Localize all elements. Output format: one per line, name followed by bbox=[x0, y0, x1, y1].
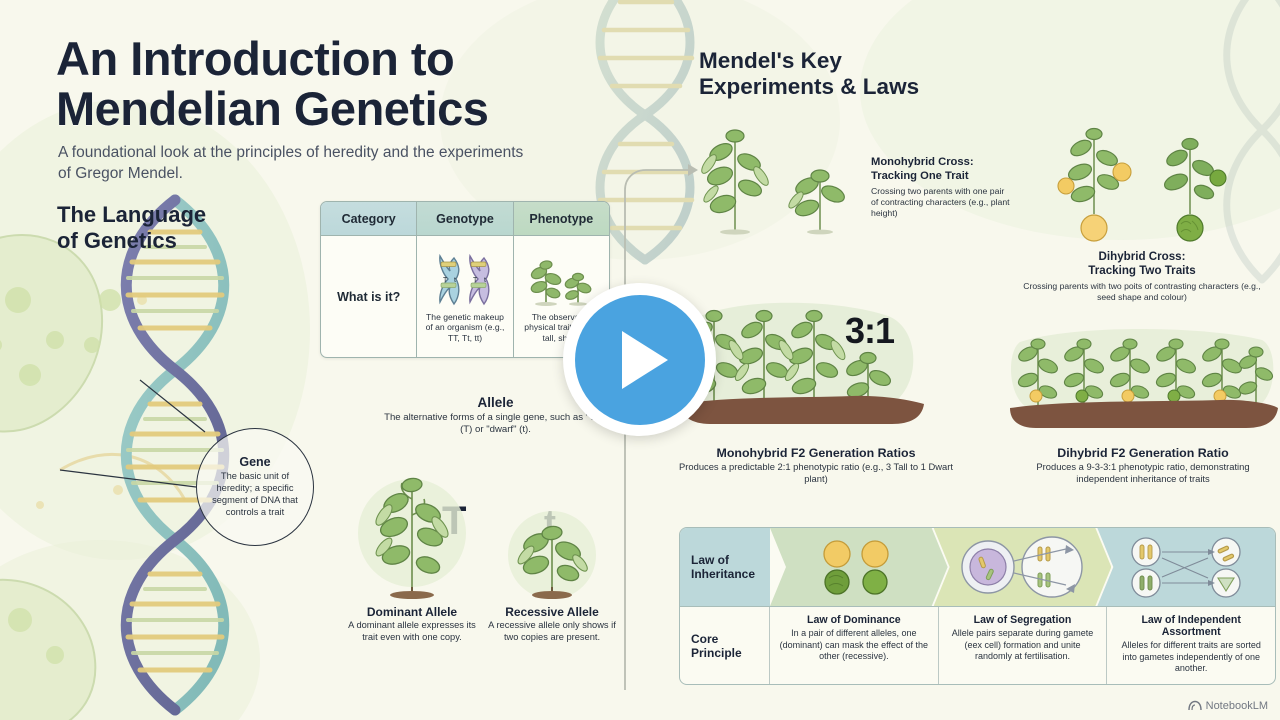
play-button[interactable] bbox=[563, 283, 716, 436]
table-header-genotype: Genotype bbox=[417, 202, 513, 235]
page-title-line1: An Introduction to bbox=[56, 34, 488, 84]
svg-text:t: t bbox=[484, 277, 486, 284]
notebooklm-logo-icon bbox=[1188, 700, 1202, 712]
yellow-seed-small bbox=[1058, 178, 1074, 194]
monohybrid-f2-description: Produces a predictable 2:1 phenotypic ra… bbox=[672, 461, 960, 485]
play-button-circle[interactable] bbox=[575, 295, 705, 425]
section-heading-line2: of Genetics bbox=[57, 228, 206, 254]
laws-illustration-row: Law of Inheritance bbox=[680, 528, 1275, 606]
law-segregation-text: Allele pairs separate during gamete (eex… bbox=[946, 628, 1100, 663]
recessive-allele-name: Recessive Allele bbox=[488, 605, 616, 619]
page-title-line2: Mendelian Genetics bbox=[56, 84, 488, 134]
monohybrid-f2-caption: Monohybrid F2 Generation Ratios Produces… bbox=[672, 446, 960, 485]
laws-row-label-line2: Inheritance bbox=[691, 567, 755, 581]
table-cell-genotype: T t T t The genetic makeup of an organis… bbox=[417, 236, 513, 358]
genotype-description: The genetic makeup of an organism (e.g.,… bbox=[422, 312, 507, 343]
dominant-allele-note: A dominant allele expresses its trait ev… bbox=[348, 620, 476, 644]
page-title: An Introduction to Mendelian Genetics bbox=[56, 34, 488, 134]
watermark: NotebookLM bbox=[1188, 700, 1268, 712]
allele-definition: Allele The alternative forms of a single… bbox=[383, 395, 608, 437]
svg-text:t: t bbox=[454, 277, 456, 284]
law-independent-assortment-name: Law of Independent Assortment bbox=[1114, 614, 1268, 638]
law-cell-independent-assortment: Law of Independent Assortment Alleles fo… bbox=[1107, 607, 1275, 685]
table-header-phenotype: Phenotype bbox=[514, 202, 609, 235]
laws-principle-label: Core Principle bbox=[680, 607, 770, 685]
table-header-row: Category Genotype Phenotype bbox=[321, 202, 609, 235]
recessive-allele-column: Recessive Allele A recessive allele only… bbox=[488, 455, 616, 644]
law-segregation-illustration bbox=[934, 528, 1112, 606]
monohybrid-f2-title: Monohybrid F2 Generation Ratios bbox=[672, 446, 960, 460]
recessive-allele-note: A recessive allele only shows if two cop… bbox=[488, 620, 616, 644]
right-heading-line2: Experiments & Laws bbox=[699, 74, 919, 100]
laws-principle-label-line1: Core bbox=[691, 632, 742, 646]
section-heading-line1: The Language bbox=[57, 202, 206, 228]
dihybrid-cross-caption: Dihybrid Cross: Tracking Two Traits Cros… bbox=[1014, 250, 1270, 302]
monohybrid-title-line2: Tracking One Trait bbox=[871, 170, 1013, 184]
watermark-label: NotebookLM bbox=[1206, 700, 1268, 712]
round-yellow-seed bbox=[1081, 215, 1107, 241]
page-subtitle: A foundational look at the principles of… bbox=[58, 143, 528, 184]
right-heading-line1: Mendel's Key bbox=[699, 48, 919, 74]
law-dominance-text: In a pair of different alleles, one (dom… bbox=[777, 628, 931, 663]
soil-bed bbox=[680, 396, 924, 424]
law-segregation-name: Law of Segregation bbox=[946, 614, 1100, 626]
law-dominance-name: Law of Dominance bbox=[777, 614, 931, 626]
gene-definition-circle: Gene The basic unit of heredity; a speci… bbox=[196, 428, 314, 546]
laws-principle-label-line2: Principle bbox=[691, 646, 742, 660]
gene-title: Gene bbox=[239, 455, 270, 469]
pea-plants-icon bbox=[526, 251, 596, 309]
monohybrid-parent-plants-illustration bbox=[683, 118, 868, 243]
allele-description: The alternative forms of a single gene, … bbox=[383, 412, 608, 437]
dihybrid-title-line1: Dihybrid Cross: bbox=[1014, 250, 1270, 264]
dominant-allele-column: Dominant Allele A dominant allele expres… bbox=[348, 455, 476, 644]
dwarf-pea-plant-illustration bbox=[488, 455, 616, 605]
law-dominance-illustration bbox=[770, 528, 948, 606]
play-triangle-icon bbox=[622, 331, 668, 389]
gene-description: The basic unit of heredity; a specific s… bbox=[206, 471, 304, 519]
table-cell-question: What is it? bbox=[321, 236, 417, 358]
law-cell-segregation: Law of Segregation Allele pairs separate… bbox=[939, 607, 1108, 685]
law-independent-assortment-text: Alleles for different traits are sorted … bbox=[1114, 640, 1268, 675]
tall-pea-plant-illustration bbox=[348, 455, 476, 605]
dihybrid-description: Crossing parents with two poits of contr… bbox=[1014, 281, 1270, 303]
laws-row-label-line1: Law of bbox=[691, 553, 755, 567]
monohybrid-title-line1: Monohybrid Cross: bbox=[871, 156, 1013, 170]
wrinkled-green-seed bbox=[1177, 215, 1203, 241]
ratio-badge-3-to-1: 3:1 bbox=[845, 310, 894, 352]
law-independent-assortment-illustration bbox=[1097, 528, 1275, 606]
table-row-label: What is it? bbox=[337, 290, 400, 304]
allele-comparison: T t bbox=[348, 455, 616, 690]
dominant-allele-name: Dominant Allele bbox=[348, 605, 476, 619]
svg-text:T: T bbox=[443, 277, 448, 284]
chromosome-pair-icon: T t T t bbox=[432, 251, 498, 309]
dihybrid-title-line2: Tracking Two Traits bbox=[1014, 264, 1270, 278]
dihybrid-f2-title: Dihybrid F2 Generation Ratio bbox=[1012, 446, 1274, 460]
laws-of-inheritance-table: Law of Inheritance bbox=[679, 527, 1276, 685]
dihybrid-f2-caption: Dihybrid F2 Generation Ratio Produces a … bbox=[1012, 446, 1274, 485]
law-cell-dominance: Law of Dominance In a pair of different … bbox=[770, 607, 939, 685]
laws-row-label: Law of Inheritance bbox=[680, 528, 770, 606]
monohybrid-description: Crossing two parents with one pair of co… bbox=[871, 186, 1013, 219]
right-section-heading: Mendel's Key Experiments & Laws bbox=[699, 48, 919, 100]
dihybrid-f2-description: Produces a 9-3-3:1 phenotypic ratio, dem… bbox=[1012, 461, 1274, 485]
section-heading-language-of-genetics: The Language of Genetics bbox=[57, 202, 206, 253]
infographic-canvas: An Introduction to Mendelian Genetics A … bbox=[0, 0, 1280, 720]
svg-text:T: T bbox=[473, 277, 478, 284]
monohybrid-cross-caption: Monohybrid Cross: Tracking One Trait Cro… bbox=[871, 156, 1013, 219]
green-seed-small bbox=[1210, 170, 1226, 186]
laws-principle-row: Core Principle Law of Dominance In a pai… bbox=[680, 606, 1275, 685]
table-header-category: Category bbox=[321, 202, 417, 235]
dihybrid-f2-garden-illustration bbox=[1006, 322, 1280, 440]
dihybrid-parent-plants-illustration bbox=[1038, 118, 1253, 243]
